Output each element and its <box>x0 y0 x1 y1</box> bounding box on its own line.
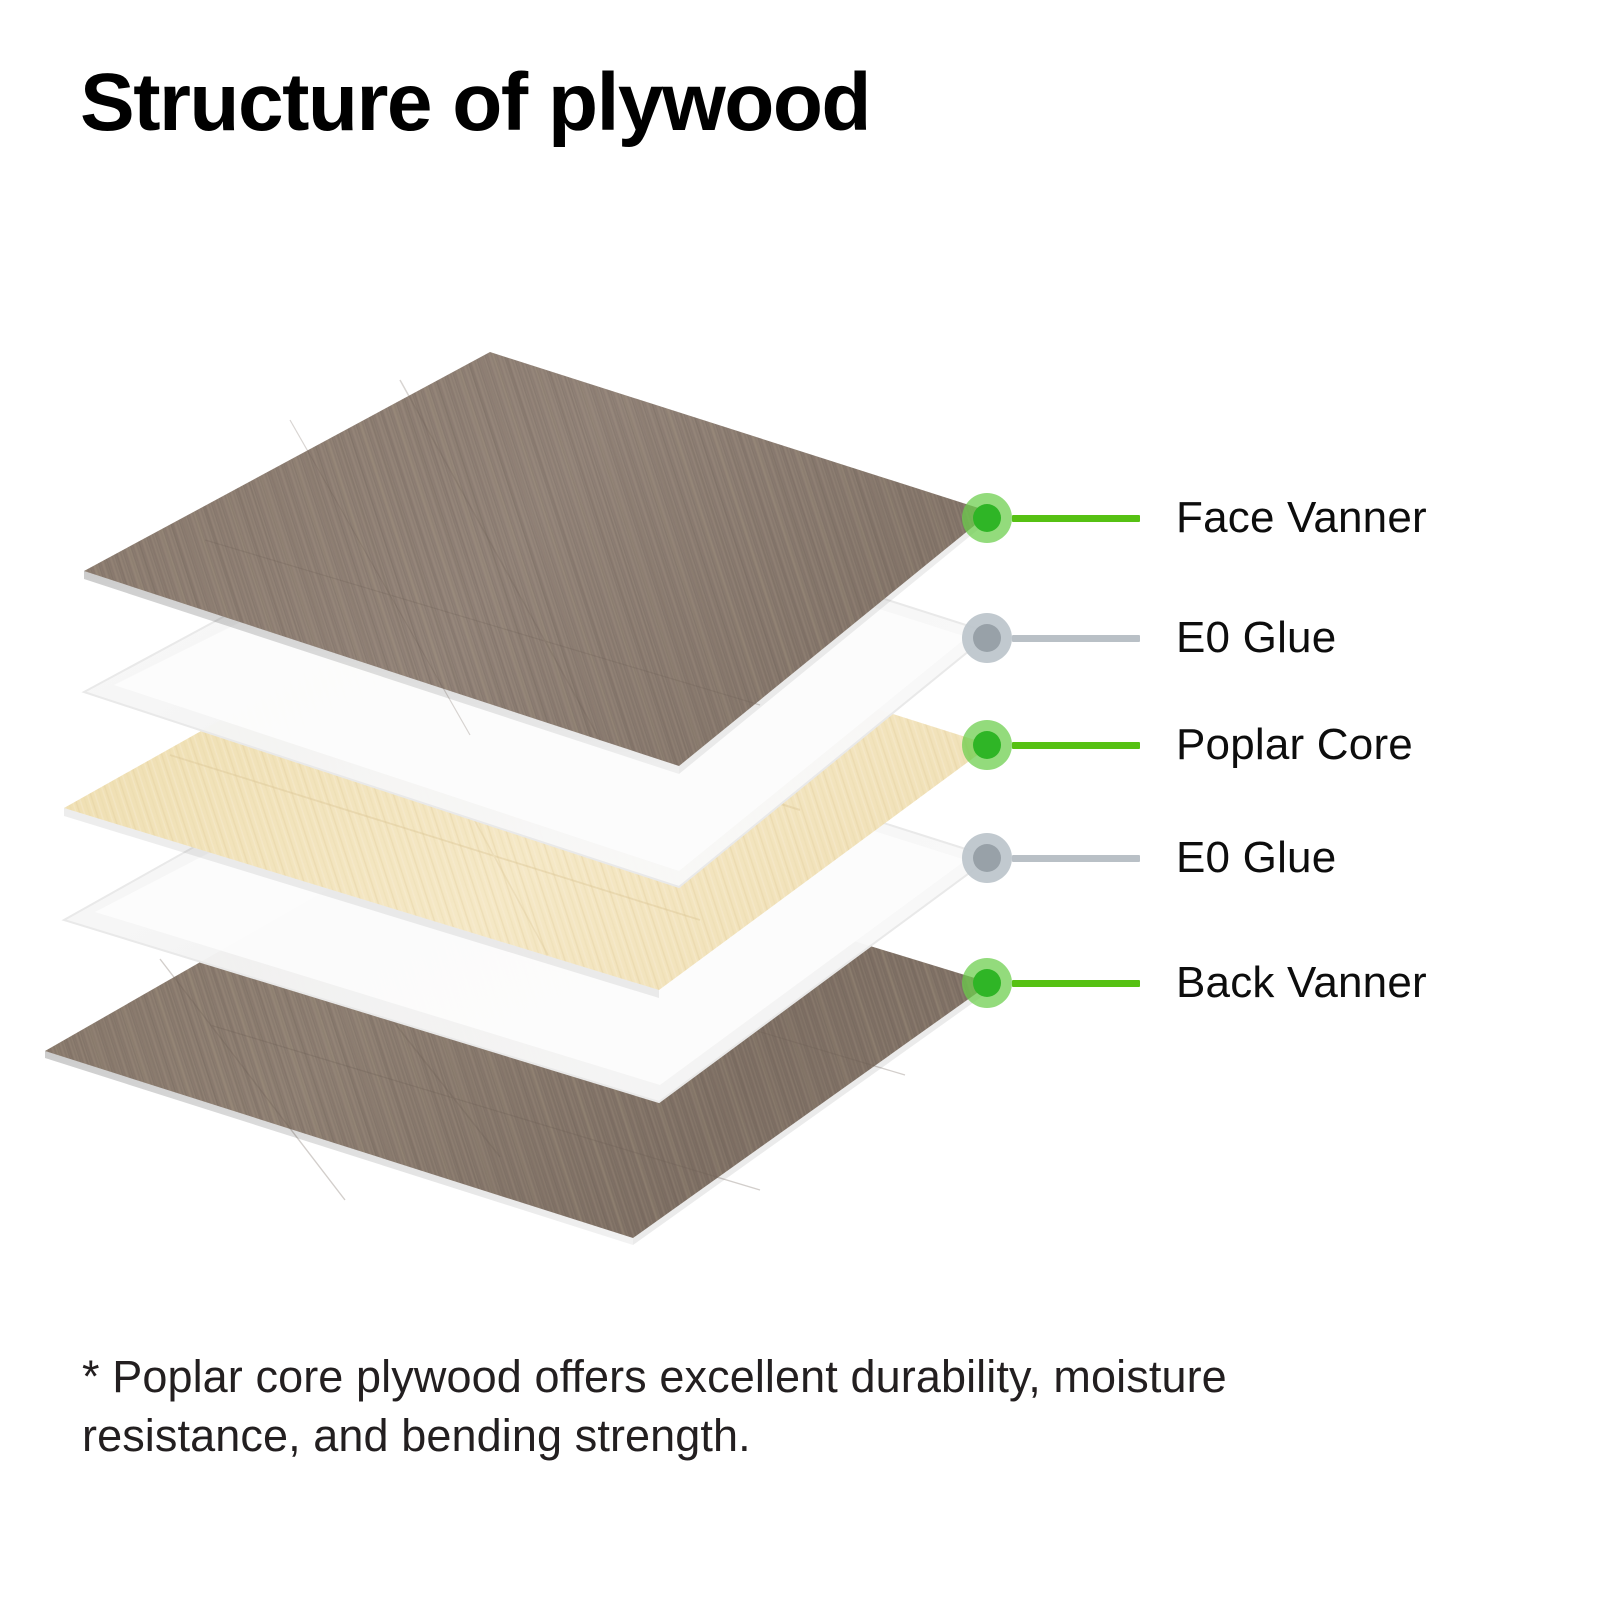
callout-poplar-core[interactable]: Poplar Core <box>960 715 1413 775</box>
marker-dot-green-icon <box>960 718 1014 772</box>
callout-label-back-vanner: Back Vanner <box>1176 958 1427 1008</box>
marker-dot-gray-icon <box>960 831 1014 885</box>
callout-face-vanner[interactable]: Face Vanner <box>960 488 1427 548</box>
marker-dot-green-icon <box>960 491 1014 545</box>
callout-glue-top[interactable]: E0 Glue <box>960 608 1336 668</box>
leader-line-green <box>1012 515 1140 522</box>
leader-line-green <box>1012 980 1140 987</box>
leader-line-green <box>1012 742 1140 749</box>
marker-dot-gray-icon <box>960 611 1014 665</box>
leader-line-gray <box>1012 855 1140 862</box>
callout-glue-bottom[interactable]: E0 Glue <box>960 828 1336 888</box>
callout-label-poplar-core: Poplar Core <box>1176 720 1413 770</box>
callout-back-vanner[interactable]: Back Vanner <box>960 953 1427 1013</box>
callout-label-face-vanner: Face Vanner <box>1176 493 1427 543</box>
callout-label-glue-top: E0 Glue <box>1176 613 1336 663</box>
plywood-exploded-diagram: Face Vanner E0 Glue Poplar Core E0 Glue <box>0 0 1600 1320</box>
callout-label-glue-bottom: E0 Glue <box>1176 833 1336 883</box>
leader-line-gray <box>1012 635 1140 642</box>
marker-dot-green-icon <box>960 956 1014 1010</box>
footnote-text: * Poplar core plywood offers excellent d… <box>82 1348 1362 1465</box>
plywood-layer-stack <box>0 0 1600 1320</box>
